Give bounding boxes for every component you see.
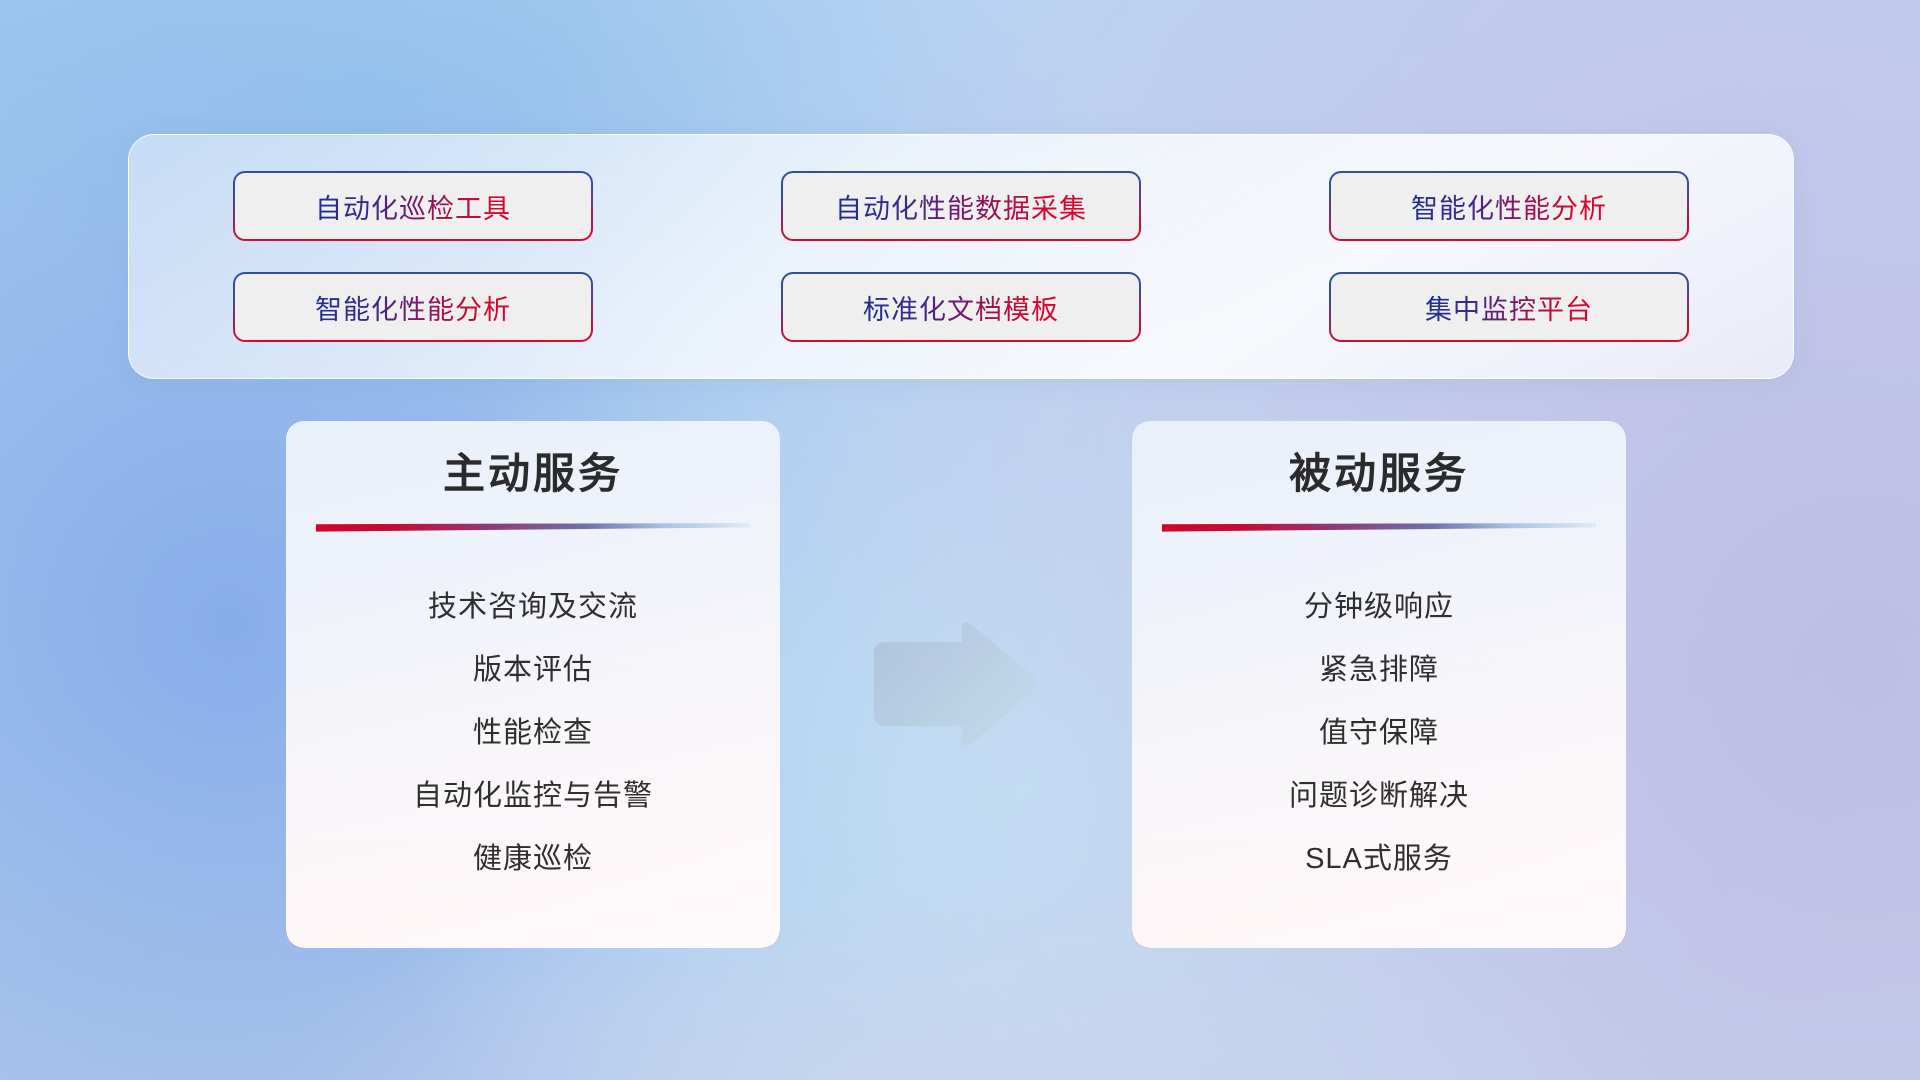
service-list-item[interactable]: 版本评估: [473, 639, 593, 702]
capability-pill-label: 自动化巡检工具: [315, 187, 511, 226]
card-divider: [316, 523, 750, 532]
service-list-item[interactable]: 紧急排障: [1319, 639, 1439, 702]
service-list-item[interactable]: 健康巡检: [473, 828, 593, 891]
service-card-proactive: 主动服务: [286, 421, 780, 948]
service-list-item[interactable]: 值守保障: [1319, 702, 1439, 765]
service-card-reactive: 被动服务: [1132, 421, 1626, 948]
capability-pill-label: 智能化性能分析: [1411, 187, 1607, 226]
service-list-item[interactable]: 性能检查: [473, 702, 593, 765]
capability-pill[interactable]: 自动化巡检工具: [235, 173, 591, 239]
capability-pill[interactable]: 标准化文档模板: [783, 274, 1139, 340]
service-list-item[interactable]: 自动化监控与告警: [413, 765, 653, 828]
service-item-list: 技术咨询及交流 版本评估 性能检查 自动化监控与告警 健康巡检: [286, 576, 780, 891]
slide-canvas: 自动化巡检工具 自动化性能数据采集 智能化性能分析 智能化性能分析 标准化文档模…: [0, 0, 1920, 1080]
service-list-item[interactable]: 技术咨询及交流: [428, 576, 638, 639]
service-card-title: 主动服务: [443, 453, 623, 495]
capabilities-panel: 自动化巡检工具 自动化性能数据采集 智能化性能分析 智能化性能分析 标准化文档模…: [128, 134, 1794, 379]
capability-pill[interactable]: 智能化性能分析: [235, 274, 591, 340]
service-item-list: 分钟级响应 紧急排障 值守保障 问题诊断解决 SLA式服务: [1132, 576, 1626, 891]
card-divider: [1162, 523, 1596, 532]
service-card-body: 主动服务: [286, 421, 780, 948]
flow-arrow-right-icon: [868, 618, 1040, 750]
capability-pill-label: 智能化性能分析: [315, 288, 511, 327]
capability-pill-label: 自动化性能数据采集: [835, 187, 1087, 226]
service-card-body: 被动服务: [1132, 421, 1626, 948]
capability-pill-grid: 自动化巡检工具 自动化性能数据采集 智能化性能分析 智能化性能分析 标准化文档模…: [235, 173, 1687, 340]
capability-pill-label: 标准化文档模板: [863, 288, 1059, 327]
service-list-item[interactable]: 问题诊断解决: [1289, 765, 1469, 828]
service-list-item[interactable]: 分钟级响应: [1304, 576, 1454, 639]
service-list-item[interactable]: SLA式服务: [1305, 828, 1453, 891]
service-card-title: 被动服务: [1289, 453, 1469, 495]
capability-pill-label: 集中监控平台: [1425, 288, 1593, 327]
capability-pill[interactable]: 自动化性能数据采集: [783, 173, 1139, 239]
capability-pill[interactable]: 智能化性能分析: [1331, 173, 1687, 239]
capability-pill[interactable]: 集中监控平台: [1331, 274, 1687, 340]
